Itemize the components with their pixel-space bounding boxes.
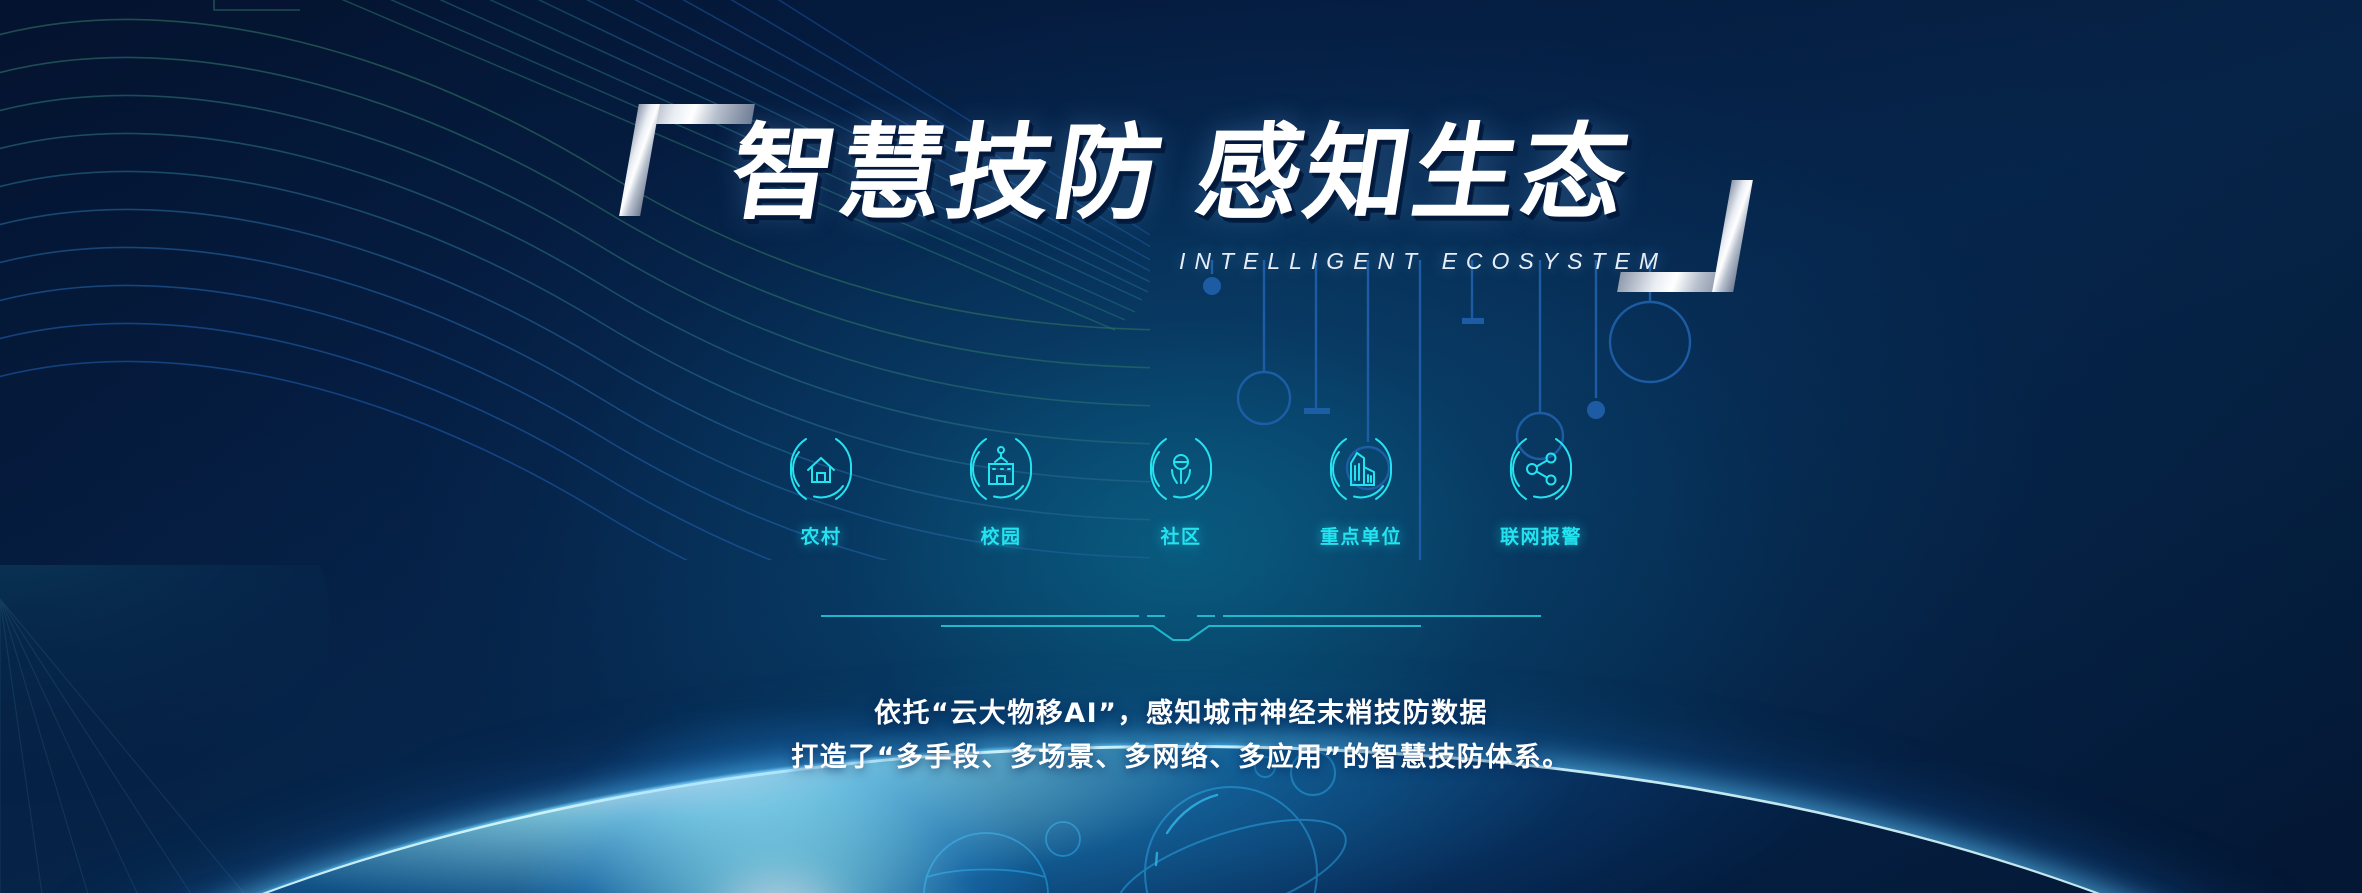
english-subtitle: INTELLIGENT ECOSYSTEM — [681, 248, 1681, 275]
description-line-2: 打造了“多手段、多场景、多网络、多应用”的智慧技防体系。 — [481, 736, 1881, 780]
title-block: 智慧技防感知生态 INTELLIGENT ECOSYSTEM — [681, 118, 1681, 275]
category-label: 农村 — [759, 522, 883, 549]
category-item-community[interactable]: 社区 — [1119, 432, 1243, 549]
corner-bracket-close-icon — [1691, 180, 1753, 292]
banner-root: 智慧技防感知生态 INTELLIGENT ECOSYSTEM — [0, 0, 2362, 893]
description-block: 依托“云大物移AI”，感知城市神经末梢技防数据 打造了“多手段、多场景、多网络、… — [481, 692, 1881, 779]
category-item-key-units[interactable]: 重点单位 — [1299, 432, 1423, 549]
banner-content: 智慧技防感知生态 INTELLIGENT ECOSYSTEM — [0, 0, 2362, 893]
school-icon — [964, 432, 1038, 506]
category-label: 社区 — [1119, 522, 1243, 549]
network-share-icon — [1504, 432, 1578, 506]
page-title-part2: 感知生态 — [1188, 112, 1639, 234]
building-icon — [1324, 432, 1398, 506]
category-label: 校园 — [939, 522, 1063, 549]
home-icon — [784, 432, 858, 506]
v-notch-divider-icon — [821, 604, 1541, 648]
category-label: 重点单位 — [1299, 522, 1423, 549]
category-item-rural[interactable]: 农村 — [759, 432, 883, 549]
category-label: 联网报警 — [1479, 522, 1603, 549]
category-item-campus[interactable]: 校园 — [939, 432, 1063, 549]
community-icon — [1144, 432, 1218, 506]
description-line-1: 依托“云大物移AI”，感知城市神经末梢技防数据 — [481, 692, 1881, 736]
corner-bracket-open-icon — [619, 104, 681, 216]
title-row: 智慧技防感知生态 — [681, 118, 1681, 228]
page-title: 智慧技防感知生态 — [723, 118, 1638, 228]
category-icons-row: 农村 — [759, 432, 1603, 549]
page-title-part1: 智慧技防 — [722, 112, 1173, 234]
category-item-networked-alarm[interactable]: 联网报警 — [1479, 432, 1603, 549]
